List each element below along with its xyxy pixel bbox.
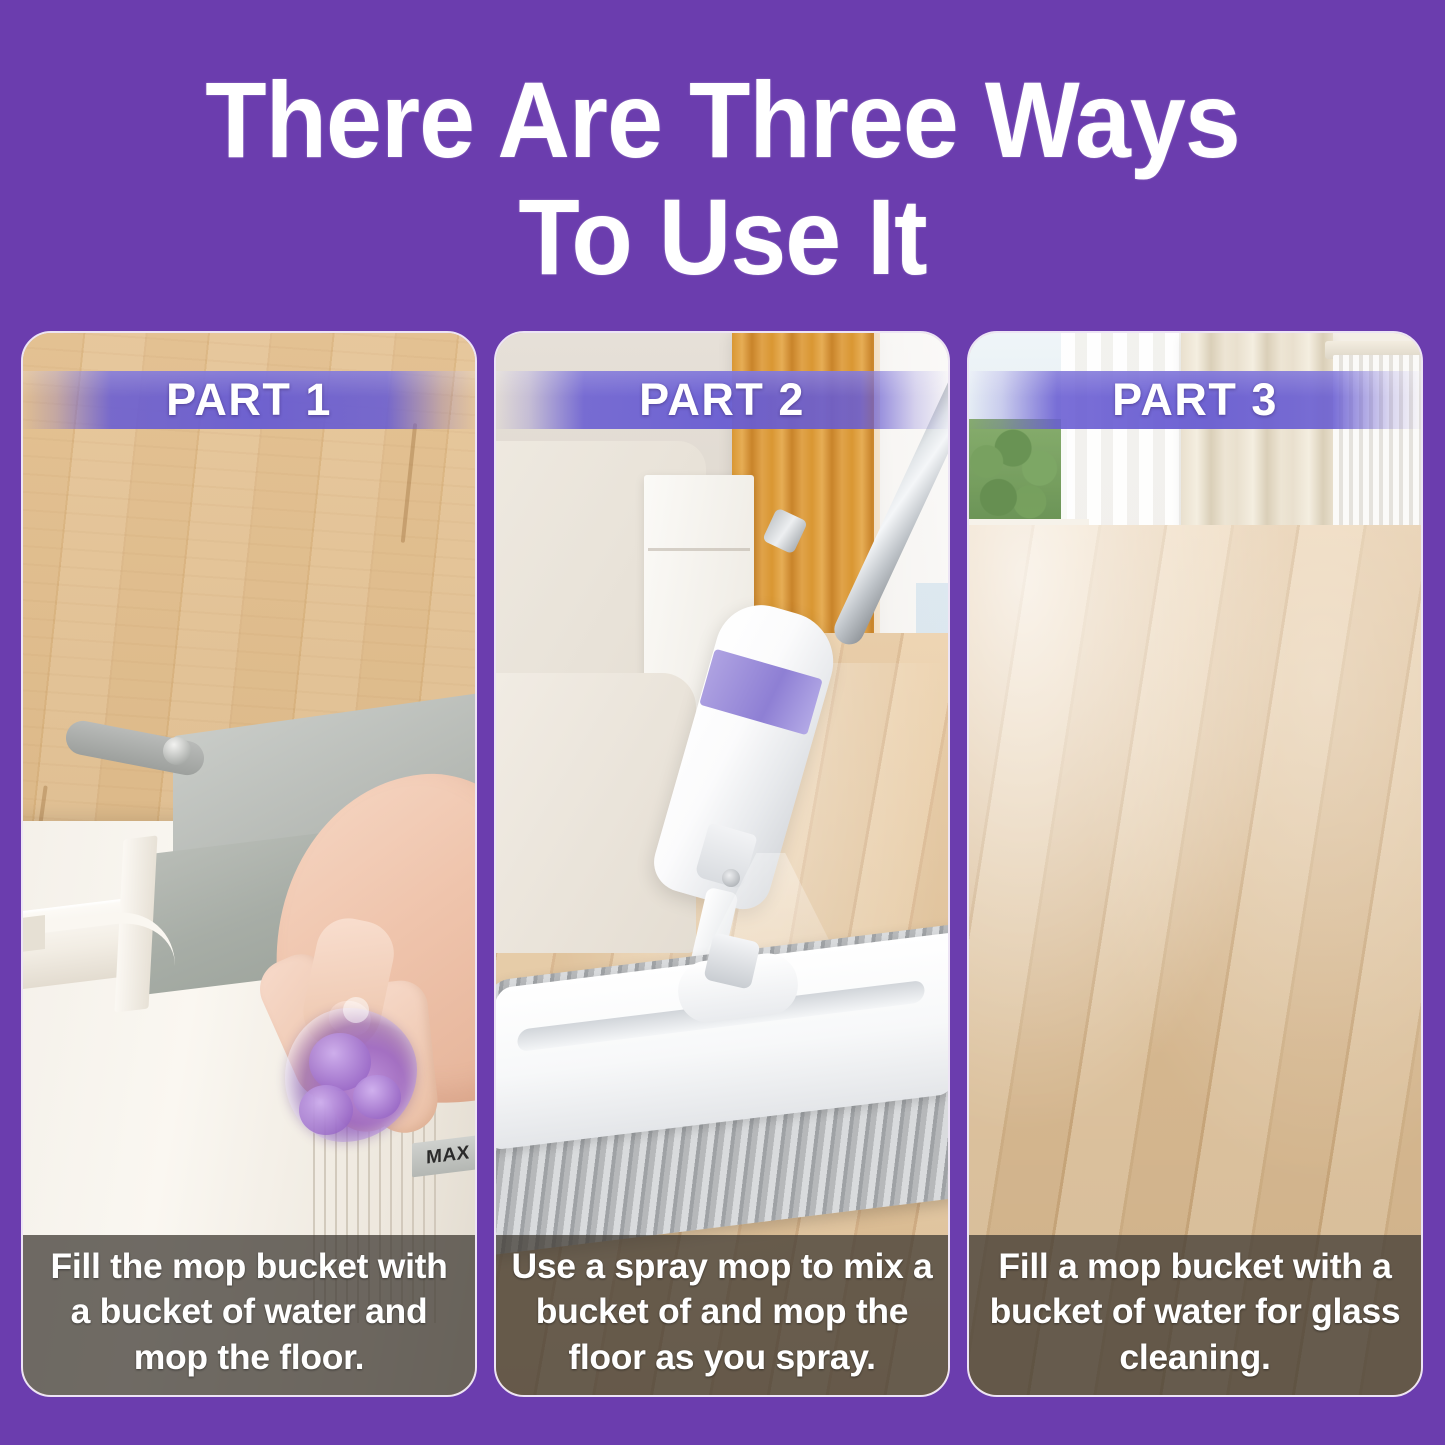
page-title: There Are Three Ways To Use It: [51, 62, 1395, 295]
pod-lobe: [353, 1075, 401, 1119]
caption-part-3: Fill a mop bucket with a bucket of water…: [969, 1235, 1421, 1395]
badge-part-2: PART 2: [494, 371, 950, 429]
panel-part-2[interactable]: PART 2 Use a spray mop to mix a bucket o…: [494, 331, 950, 1397]
caption-part-3-text: Fill a mop bucket with a bucket of water…: [983, 1244, 1407, 1380]
badge-part-3: PART 3: [967, 371, 1423, 429]
pod-lobe: [299, 1085, 353, 1135]
badge-part-1: PART 1: [21, 371, 477, 429]
badge-part-3-label: PART 3: [1112, 374, 1278, 426]
panel-part-3[interactable]: PART 3 Fill a mop bucket with a bucket o…: [967, 331, 1423, 1397]
badge-part-2-label: PART 2: [639, 374, 805, 426]
panel-part-1[interactable]: MAX PART 1 Fill the mop bucket with a bu…: [21, 331, 477, 1397]
cabinet-drawer-line: [648, 548, 750, 551]
bucket-corner-notch: [23, 915, 45, 953]
sheer-curtain: [1061, 333, 1191, 533]
caption-part-1-text: Fill the mop bucket with a bucket of wat…: [37, 1244, 461, 1380]
page-title-line-2: To Use It: [51, 179, 1395, 296]
page-title-line-1: There Are Three Ways: [205, 59, 1240, 180]
caption-part-2: Use a spray mop to mix a bucket of and m…: [496, 1235, 948, 1395]
cream-drapes: [1181, 333, 1333, 529]
spray-nozzle: [722, 869, 740, 887]
max-level-text: MAX: [426, 1142, 470, 1169]
outdoor-foliage: [969, 419, 1067, 531]
caption-part-2-text: Use a spray mop to mix a bucket of and m…: [510, 1244, 934, 1380]
badge-part-1-label: PART 1: [166, 374, 332, 426]
caption-part-1: Fill the mop bucket with a bucket of wat…: [23, 1235, 475, 1395]
panel-grid: MAX PART 1 Fill the mop bucket with a bu…: [21, 331, 1424, 1397]
